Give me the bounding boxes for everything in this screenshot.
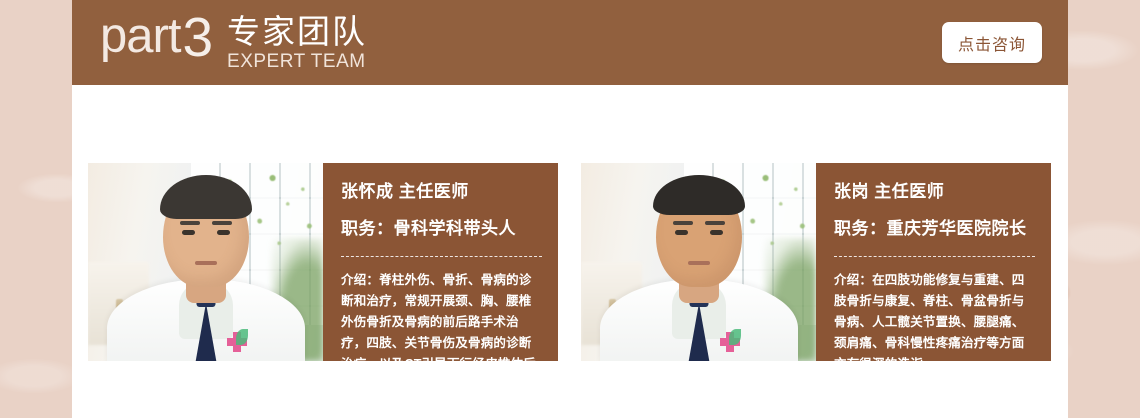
sawtooth-divider — [72, 83, 1068, 97]
eyebrow-left — [673, 221, 693, 225]
hospital-logo-icon — [717, 331, 743, 353]
doctor-photo — [581, 163, 816, 361]
dashed-divider — [834, 256, 1035, 257]
expert-card-list: 张怀成 主任医师 职务：骨科学科带头人 介绍：脊柱外伤、骨折、骨病的诊断和治疗，… — [88, 163, 1052, 361]
section-title-en: EXPERT TEAM — [227, 51, 367, 73]
doctor-name: 张岗 主任医师 — [834, 183, 1035, 200]
doctor-figure — [581, 163, 816, 361]
section-header-band: part 3 专家团队 EXPERT TEAM 点击咨询 — [72, 0, 1068, 85]
eye-right — [710, 230, 723, 235]
doctor-description: 介绍：在四肢功能修复与重建、四肢骨折与康复、脊柱、骨盆骨折与骨病、人工髋关节置换… — [834, 270, 1035, 361]
section-title-cn: 专家团队 — [227, 14, 367, 50]
part-word: part — [100, 12, 180, 61]
eye-left — [675, 230, 688, 235]
doctor-description: 介绍：脊柱外伤、骨折、骨病的诊断和治疗，常规开展颈、胸、腰椎外伤骨折及骨病的前后… — [341, 270, 542, 361]
eye-left — [182, 230, 195, 235]
title-text-block: 专家团队 EXPERT TEAM — [227, 12, 367, 73]
eye-right — [217, 230, 230, 235]
part-number: 3 — [182, 12, 213, 62]
doctor-role: 职务：骨科学科带头人 — [341, 220, 542, 237]
hair — [653, 175, 745, 215]
necktie — [688, 303, 710, 361]
hospital-logo-icon — [224, 331, 250, 353]
header-inner: part 3 专家团队 EXPERT TEAM 点击咨询 — [72, 0, 1068, 85]
doctor-role: 职务：重庆芳华医院院长 — [834, 220, 1035, 237]
section-title-group: part 3 专家团队 EXPERT TEAM — [100, 12, 367, 73]
mouth — [195, 261, 217, 265]
expert-card[interactable]: 张怀成 主任医师 职务：骨科学科带头人 介绍：脊柱外伤、骨折、骨病的诊断和治疗，… — [88, 163, 558, 361]
expert-card[interactable]: 张岗 主任医师 职务：重庆芳华医院院长 介绍：在四肢功能修复与重建、四肢骨折与康… — [581, 163, 1051, 361]
doctor-photo — [88, 163, 323, 361]
content-column: part 3 专家团队 EXPERT TEAM 点击咨询 — [72, 0, 1068, 418]
doctor-name: 张怀成 主任医师 — [341, 183, 542, 200]
doctor-info: 张岗 主任医师 职务：重庆芳华医院院长 介绍：在四肢功能修复与重建、四肢骨折与康… — [816, 163, 1051, 361]
consult-button[interactable]: 点击咨询 — [942, 22, 1042, 63]
doctor-figure — [88, 163, 323, 361]
eyebrow-left — [180, 221, 200, 225]
hair — [160, 175, 252, 219]
eyebrow-right — [705, 221, 725, 225]
dashed-divider — [341, 256, 542, 257]
eyebrow-right — [212, 221, 232, 225]
doctor-info: 张怀成 主任医师 职务：骨科学科带头人 介绍：脊柱外伤、骨折、骨病的诊断和治疗，… — [323, 163, 558, 361]
necktie — [195, 303, 217, 361]
mouth — [688, 261, 710, 265]
